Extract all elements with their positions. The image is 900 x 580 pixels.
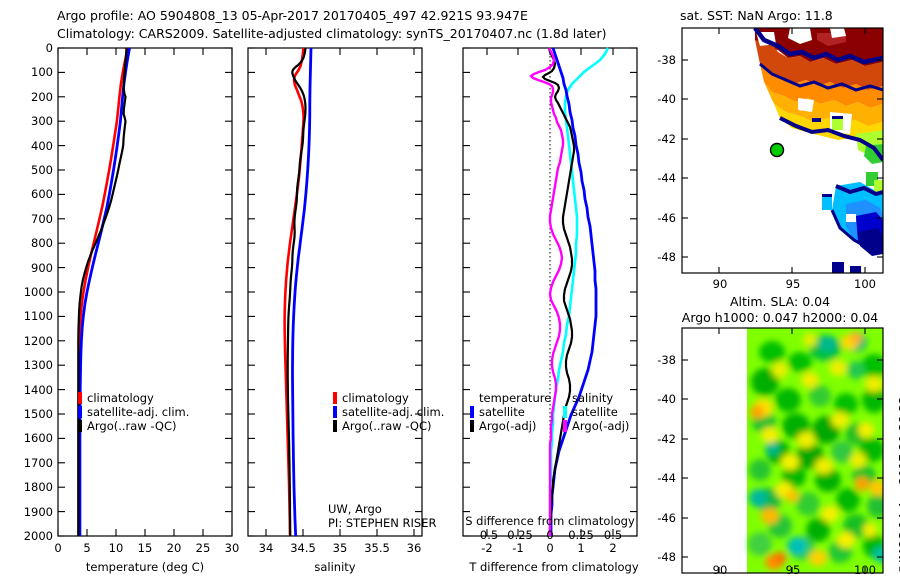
tick-label: 95 (777, 563, 809, 577)
tick-label: -46 (648, 211, 676, 225)
legend-label: Argo(-adj) (572, 419, 629, 433)
tick-label: 100 (849, 563, 881, 577)
legend-item: Argo(-adj) (563, 418, 629, 432)
legend-group-title: temperature (470, 390, 551, 404)
tick-label: 90 (704, 563, 736, 577)
tick-label: -44 (648, 171, 676, 185)
tick-label: -48 (648, 550, 676, 564)
legend-swatch-temperature-argo (470, 420, 474, 432)
legend-group-label: temperature (479, 391, 551, 405)
difference-plot-svg (0, 0, 660, 580)
sst-map-svg (660, 0, 900, 300)
tick-label: -42 (648, 132, 676, 146)
tick-label: -42 (648, 432, 676, 446)
difference-panel (0, 0, 660, 580)
legend-label: satellite (572, 405, 618, 419)
legend-label: satellite (479, 405, 525, 419)
salinity-argo-difference-line (531, 48, 563, 536)
sla-map-svg (660, 300, 900, 580)
tick-label: -0.25 (498, 528, 538, 542)
difference-legend-temperature: temperature satellite Argo(-adj) (470, 390, 551, 432)
legend-item: satellite (563, 404, 629, 418)
tick-label: 0 (540, 528, 560, 542)
tick-label: -48 (648, 250, 676, 264)
difference-bottom-axis-label: T difference from climatology (463, 560, 645, 574)
tick-label: 0 (536, 541, 564, 555)
difference-top-axis-label: S difference from climatology (463, 514, 637, 528)
legend-swatch-salinity-argo (563, 420, 567, 432)
legend-swatch-salinity-satellite (563, 406, 567, 418)
legend-item: Argo(-adj) (470, 418, 551, 432)
tick-label: -44 (648, 471, 676, 485)
tick-label: -46 (648, 511, 676, 525)
legend-swatch-temperature-satellite (470, 406, 474, 418)
argo-position-marker (771, 144, 784, 157)
temperature-argo-difference-line (543, 48, 574, 536)
tick-label: -40 (648, 392, 676, 406)
legend-item: satellite (470, 404, 551, 418)
tick-label: 90 (704, 277, 736, 291)
sst-map-panel (660, 0, 900, 300)
tick-label: -38 (648, 53, 676, 67)
tick-label: 0.5 (595, 528, 631, 542)
tick-label: -40 (648, 92, 676, 106)
tick-label: -1 (504, 541, 532, 555)
legend-group-label: salinity (572, 391, 613, 405)
tick-label: 1 (567, 541, 595, 555)
salinity-satellite-difference-line (550, 48, 608, 536)
tick-label: 100 (849, 277, 881, 291)
difference-legend-salinity: salinity satellite Argo(-adj) (563, 390, 629, 432)
sla-field (747, 328, 891, 573)
tick-label: -2 (473, 541, 501, 555)
legend-label: Argo(-adj) (479, 419, 536, 433)
legend-group-title: salinity (563, 390, 629, 404)
sla-map-panel (660, 300, 900, 580)
tick-label: -38 (648, 353, 676, 367)
tick-label: 95 (777, 277, 809, 291)
tick-label: 2 (599, 541, 627, 555)
